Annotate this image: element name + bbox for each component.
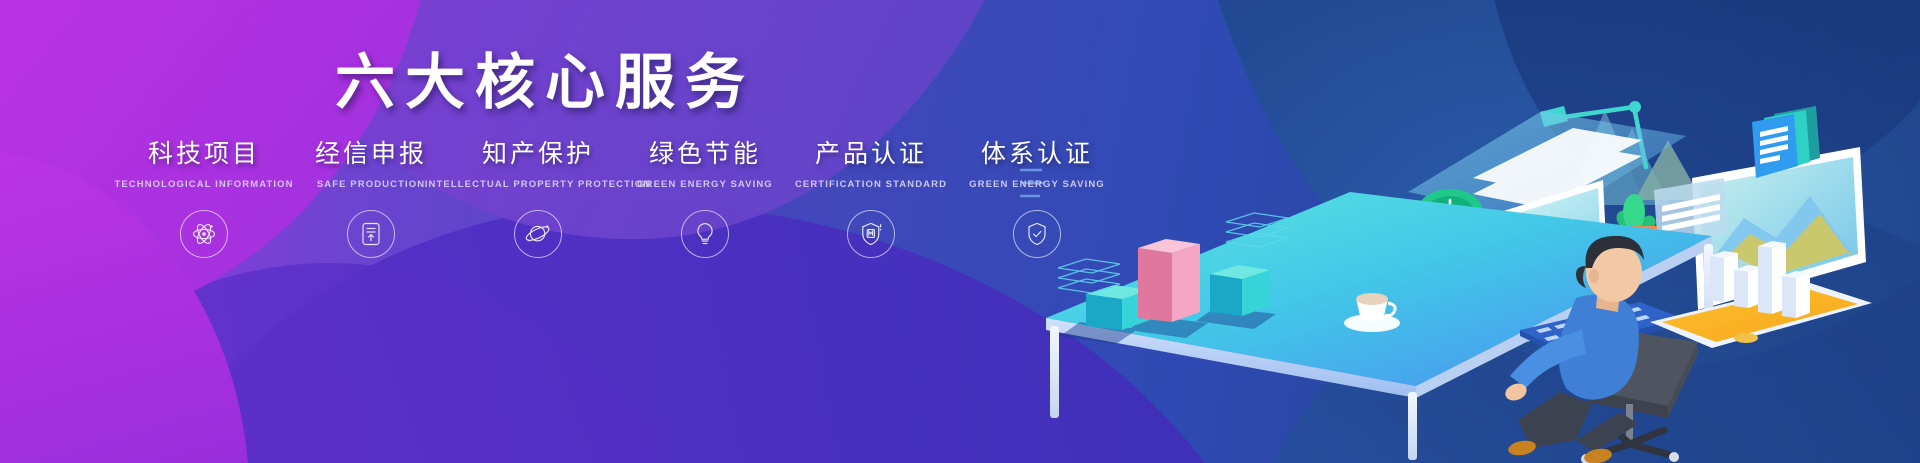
shield-badge-icon[interactable] [847, 210, 895, 258]
service-title-cn: 知产保护 [482, 140, 594, 168]
service-item-technological-information[interactable]: 科技项目 TECHNOLOGICAL INFORMATION [120, 140, 288, 258]
service-subtitle-en: GREEN ENERGY SAVING [969, 179, 1105, 190]
service-title-cn: 产品认证 [815, 140, 927, 168]
shield-check-icon[interactable] [1013, 210, 1061, 258]
planet-icon[interactable] [514, 210, 562, 258]
service-title-cn: 科技项目 [148, 140, 260, 168]
service-subtitle-en: SAFE PRODUCTION [317, 179, 425, 190]
service-subtitle-en: INTELLECTUAL PROPERTY PROTECTION [425, 179, 651, 190]
service-item-certification-standard[interactable]: 产品认证 CERTIFICATION STANDARD [788, 140, 954, 258]
service-title-cn: 绿色节能 [649, 140, 761, 168]
atom-icon[interactable] [180, 210, 228, 258]
document-upload-icon[interactable] [347, 210, 395, 258]
banner-title: 六大核心服务 [0, 34, 1090, 121]
service-subtitle-en: GREEN ENERGY SAVING [637, 179, 773, 190]
isometric-office-workspace [1020, 0, 1920, 463]
promo-banner: 六大核心服务 科技项目 TECHNOLOGICAL INFORMATION 经信… [0, 0, 1920, 463]
service-item-system-certification[interactable]: 体系认证 GREEN ENERGY SAVING [954, 140, 1120, 258]
lightbulb-icon[interactable] [681, 210, 729, 258]
service-subtitle-en: TECHNOLOGICAL INFORMATION [114, 179, 293, 190]
service-title-cn: 体系认证 [981, 140, 1093, 168]
services-list: 科技项目 TECHNOLOGICAL INFORMATION 经信申报 SAFE… [120, 140, 1120, 300]
service-title-cn: 经信申报 [315, 140, 427, 168]
service-item-green-energy-saving[interactable]: 绿色节能 GREEN ENERGY SAVING [622, 140, 788, 258]
service-item-intellectual-property-protection[interactable]: 知产保护 INTELLECTUAL PROPERTY PROTECTION [454, 140, 622, 258]
service-subtitle-en: CERTIFICATION STANDARD [795, 179, 947, 190]
service-item-safe-production[interactable]: 经信申报 SAFE PRODUCTION [288, 140, 454, 258]
